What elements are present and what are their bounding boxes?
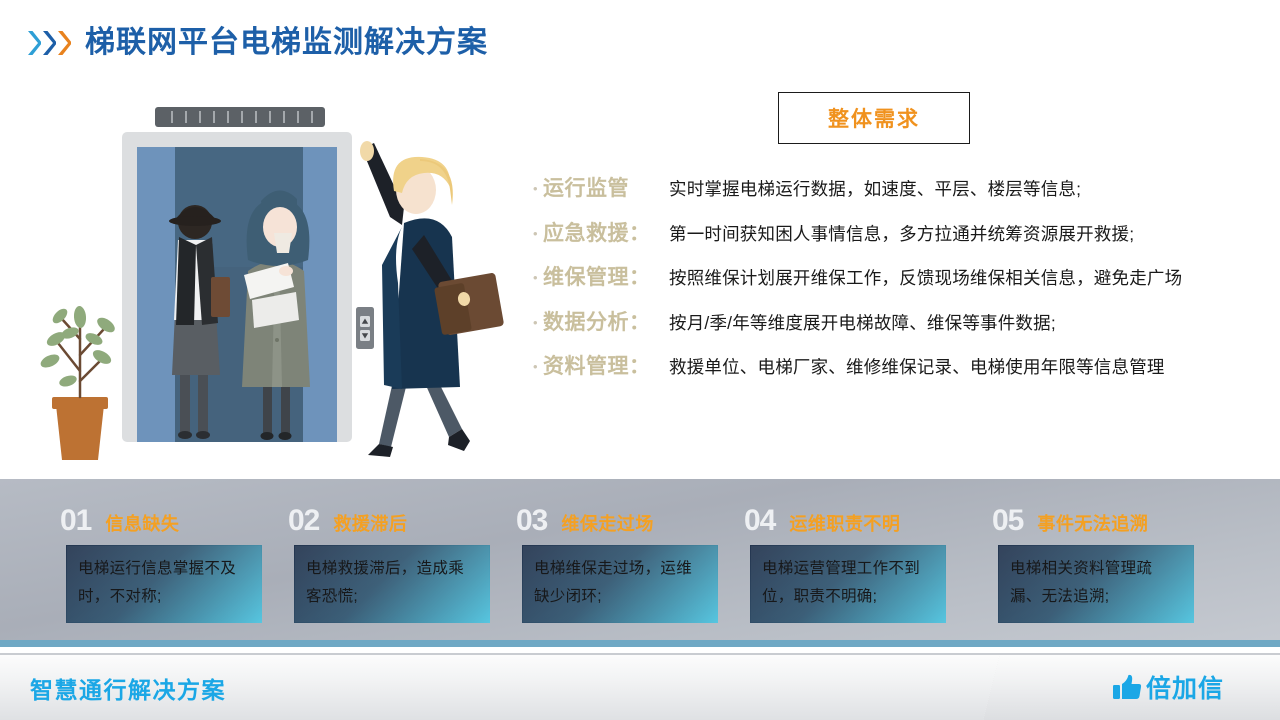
pain-point-header: 04 运维职责不明 xyxy=(728,506,968,536)
requirement-item: • 应急救援： 第一时间获知困人事情信息，多方拉通并统筹资源展开救援; xyxy=(533,217,1263,262)
bullet-dot-icon: • xyxy=(533,227,543,240)
chevron-right-icon-3 xyxy=(56,28,71,58)
requirement-value: 救援单位、电梯厂家、维修维保记录、电梯使用年限等信息管理 xyxy=(669,354,1165,379)
pain-point-title: 运维职责不明 xyxy=(789,515,900,533)
bullet-dot-icon: • xyxy=(533,271,543,284)
pain-point-number: 04 xyxy=(744,506,775,536)
requirement-key: 维保管理： xyxy=(543,261,661,291)
pain-point-description: 电梯相关资料管理疏漏、无法追溯; xyxy=(998,545,1194,623)
page-title: 梯联网平台电梯监测解决方案 xyxy=(85,28,488,58)
pain-point-number: 05 xyxy=(992,506,1023,536)
pain-point-header: 02 救援滞后 xyxy=(272,506,512,536)
elevator-illustration xyxy=(20,85,520,465)
footer-title: 智慧通行解决方案 xyxy=(30,671,226,705)
chevron-right-icon-1 xyxy=(26,28,41,58)
pain-point-description: 电梯救援滞后，造成乘客恐慌; xyxy=(294,545,490,623)
pain-point-card: 05 事件无法追溯 电梯相关资料管理疏漏、无法追溯; xyxy=(976,506,1216,623)
requirement-key: 运行监管 xyxy=(543,172,661,202)
pain-point-title: 维保走过场 xyxy=(561,515,654,533)
pain-point-description: 电梯运营管理工作不到位，职责不明确; xyxy=(750,545,946,623)
bullet-dot-icon: • xyxy=(533,360,543,373)
pain-point-title: 信息缺失 xyxy=(105,515,179,533)
requirement-value: 实时掌握电梯运行数据，如速度、平层、楼层等信息; xyxy=(669,176,1081,201)
pain-point-card: 01 信息缺失 电梯运行信息掌握不及时，不对称; xyxy=(44,506,284,623)
requirement-item: • 数据分析： 按月/季/年等维度展开电梯故障、维保等事件数据; xyxy=(533,306,1263,351)
pain-point-header: 05 事件无法追溯 xyxy=(976,506,1216,536)
thumbs-up-icon xyxy=(1112,673,1142,701)
elevator-cabin xyxy=(122,132,352,442)
pain-point-card: 04 运维职责不明 电梯运营管理工作不到位，职责不明确; xyxy=(728,506,968,623)
requirement-value: 第一时间获知困人事情信息，多方拉通并统筹资源展开救援; xyxy=(669,221,1134,246)
overall-requirement-label: 整体需求 xyxy=(828,103,920,133)
requirement-value: 按照维保计划展开维保工作，反馈现场维保相关信息，避免走广场 xyxy=(669,265,1182,290)
brand-logo: 倍加信 xyxy=(1112,669,1224,705)
pain-point-header: 01 信息缺失 xyxy=(44,506,284,536)
bullet-dot-icon: • xyxy=(533,316,543,329)
call-button-panel[interactable] xyxy=(356,307,374,349)
pain-point-description: 电梯运行信息掌握不及时，不对称; xyxy=(66,545,262,623)
pain-point-number: 03 xyxy=(516,506,547,536)
potted-plant xyxy=(39,306,118,460)
brand-name: 倍加信 xyxy=(1146,669,1224,705)
requirement-list: • 运行监管 实时掌握电梯运行数据，如速度、平层、楼层等信息; • 应急救援： … xyxy=(533,172,1263,395)
overall-requirement-box: 整体需求 xyxy=(778,92,970,144)
pain-point-number: 02 xyxy=(288,506,319,536)
requirement-item: • 维保管理： 按照维保计划展开维保工作，反馈现场维保相关信息，避免走广场 xyxy=(533,261,1263,306)
chevron-right-icon-2 xyxy=(41,28,56,58)
running-person xyxy=(360,141,504,457)
floor-indicator-icon xyxy=(155,107,325,127)
requirement-key: 资料管理： xyxy=(543,350,661,380)
slide-header: 梯联网平台电梯监测解决方案 xyxy=(26,28,488,58)
pain-point-card: 03 维保走过场 电梯维保走过场，运维缺少闭环; xyxy=(500,506,740,623)
pain-point-card-list: 01 信息缺失 电梯运行信息掌握不及时，不对称; 02 救援滞后 电梯救援滞后，… xyxy=(0,479,1280,646)
pain-point-card: 02 救援滞后 电梯救援滞后，造成乘客恐慌; xyxy=(272,506,512,623)
pain-point-header: 03 维保走过场 xyxy=(500,506,740,536)
pain-point-description: 电梯维保走过场，运维缺少闭环; xyxy=(522,545,718,623)
pain-point-number: 01 xyxy=(60,506,91,536)
requirement-item: • 资料管理： 救援单位、电梯厂家、维修维保记录、电梯使用年限等信息管理 xyxy=(533,350,1263,395)
elevator-scene-svg xyxy=(20,85,520,465)
footer-top-divider xyxy=(0,653,1280,655)
requirement-item: • 运行监管 实时掌握电梯运行数据，如速度、平层、楼层等信息; xyxy=(533,172,1263,217)
requirement-key: 数据分析： xyxy=(543,306,661,336)
requirement-key: 应急救援： xyxy=(543,217,661,247)
bullet-dot-icon: • xyxy=(533,182,543,195)
chevron-group-icon xyxy=(26,28,71,58)
slide-root: 梯联网平台电梯监测解决方案 xyxy=(0,0,1280,720)
slide-footer: 智慧通行解决方案 倍加信 xyxy=(0,653,1280,720)
pain-point-title: 救援滞后 xyxy=(333,515,407,533)
requirement-value: 按月/季/年等维度展开电梯故障、维保等事件数据; xyxy=(669,310,1056,335)
pain-point-title: 事件无法追溯 xyxy=(1037,515,1148,533)
